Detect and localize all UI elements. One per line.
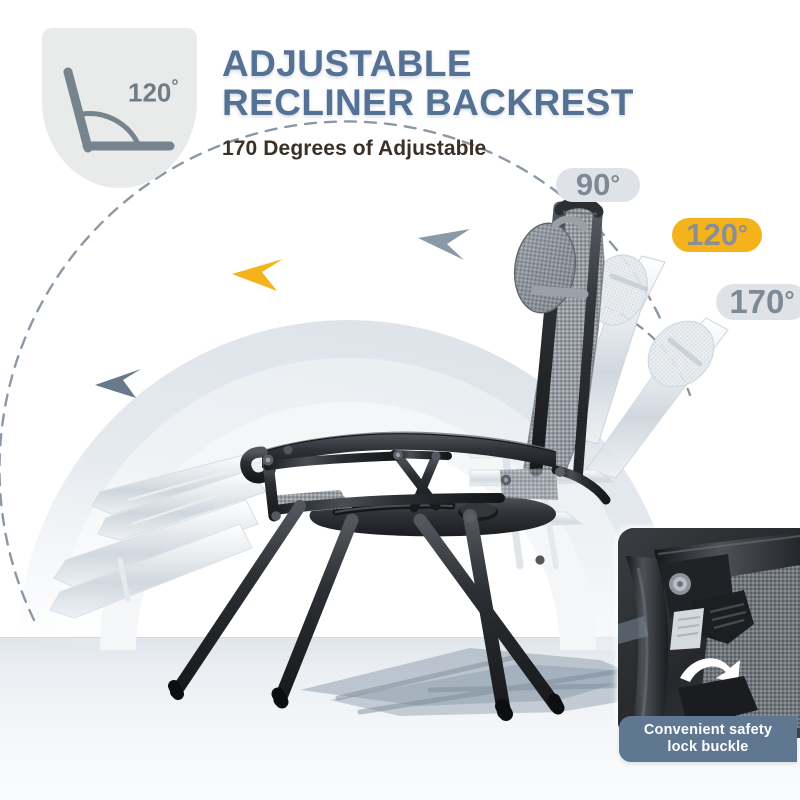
page-subtitle: 170 Degrees of Adjustable: [222, 137, 486, 161]
safety-lock-buckle-inset: [618, 528, 800, 738]
angle-badge-120: 120°: [672, 218, 762, 252]
angle-badge-120-value: 120: [686, 217, 738, 253]
angle-badge-170-value: 170: [729, 283, 784, 321]
inset-caption: Convenient safety lock buckle: [619, 716, 797, 762]
safety-lock-buckle-closeup: [618, 528, 800, 738]
infographic-canvas: 120° ADJUSTABLE RECLINER BACKREST 170 De…: [0, 0, 800, 800]
degree-symbol-icon: °: [784, 289, 794, 315]
degree-symbol-icon: °: [610, 173, 620, 197]
angle-shield-badge: 120°: [42, 28, 197, 188]
angle-badge-170: 170°: [716, 284, 800, 320]
caption-line-1: Convenient safety: [644, 722, 772, 738]
title-line-1: ADJUSTABLE: [222, 43, 472, 84]
page-title: ADJUSTABLE RECLINER BACKREST: [222, 44, 692, 122]
caption-line-2: lock buckle: [667, 739, 748, 755]
shield-badge-value: 120°: [128, 76, 179, 109]
title-line-2: RECLINER BACKREST: [222, 83, 692, 122]
degree-symbol-icon: °: [738, 223, 748, 247]
chair-legs: [174, 506, 558, 714]
angle-badge-90: 90°: [556, 168, 640, 202]
angle-badge-90-value: 90: [576, 167, 610, 203]
